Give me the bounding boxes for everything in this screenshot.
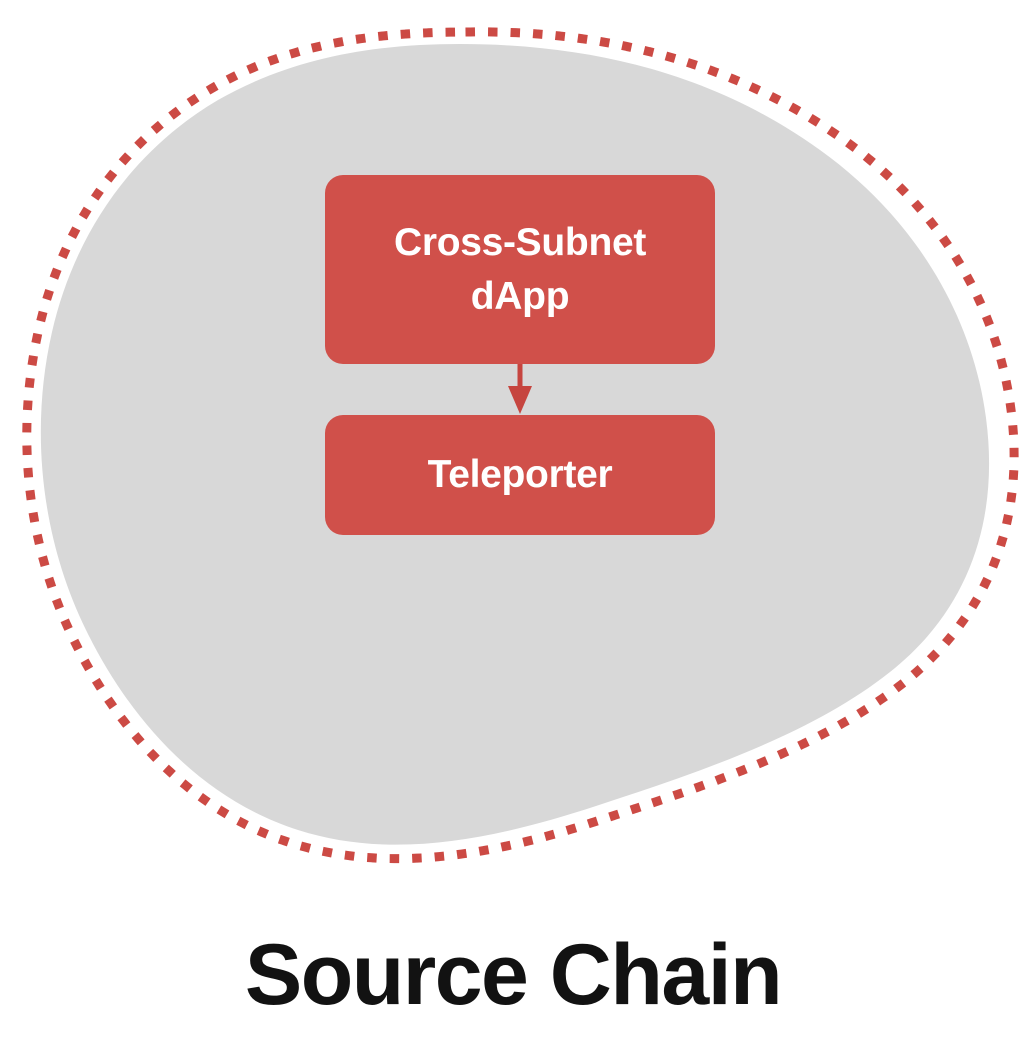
node-cross-subnet-dapp-label: Cross-Subnet dApp [394, 216, 646, 324]
node-cross-subnet-dapp-label-line1: Cross-Subnet [394, 221, 646, 264]
source-chain-title: Source Chain [0, 925, 1026, 1025]
node-teleporter[interactable]: Teleporter [325, 415, 715, 535]
node-cross-subnet-dapp-label-line2: dApp [471, 275, 569, 318]
node-cross-subnet-dapp[interactable]: Cross-Subnet dApp [325, 175, 715, 364]
diagram-canvas: Cross-Subnet dApp Teleporter Source Chai… [0, 0, 1026, 1054]
node-teleporter-label: Teleporter [428, 451, 613, 499]
